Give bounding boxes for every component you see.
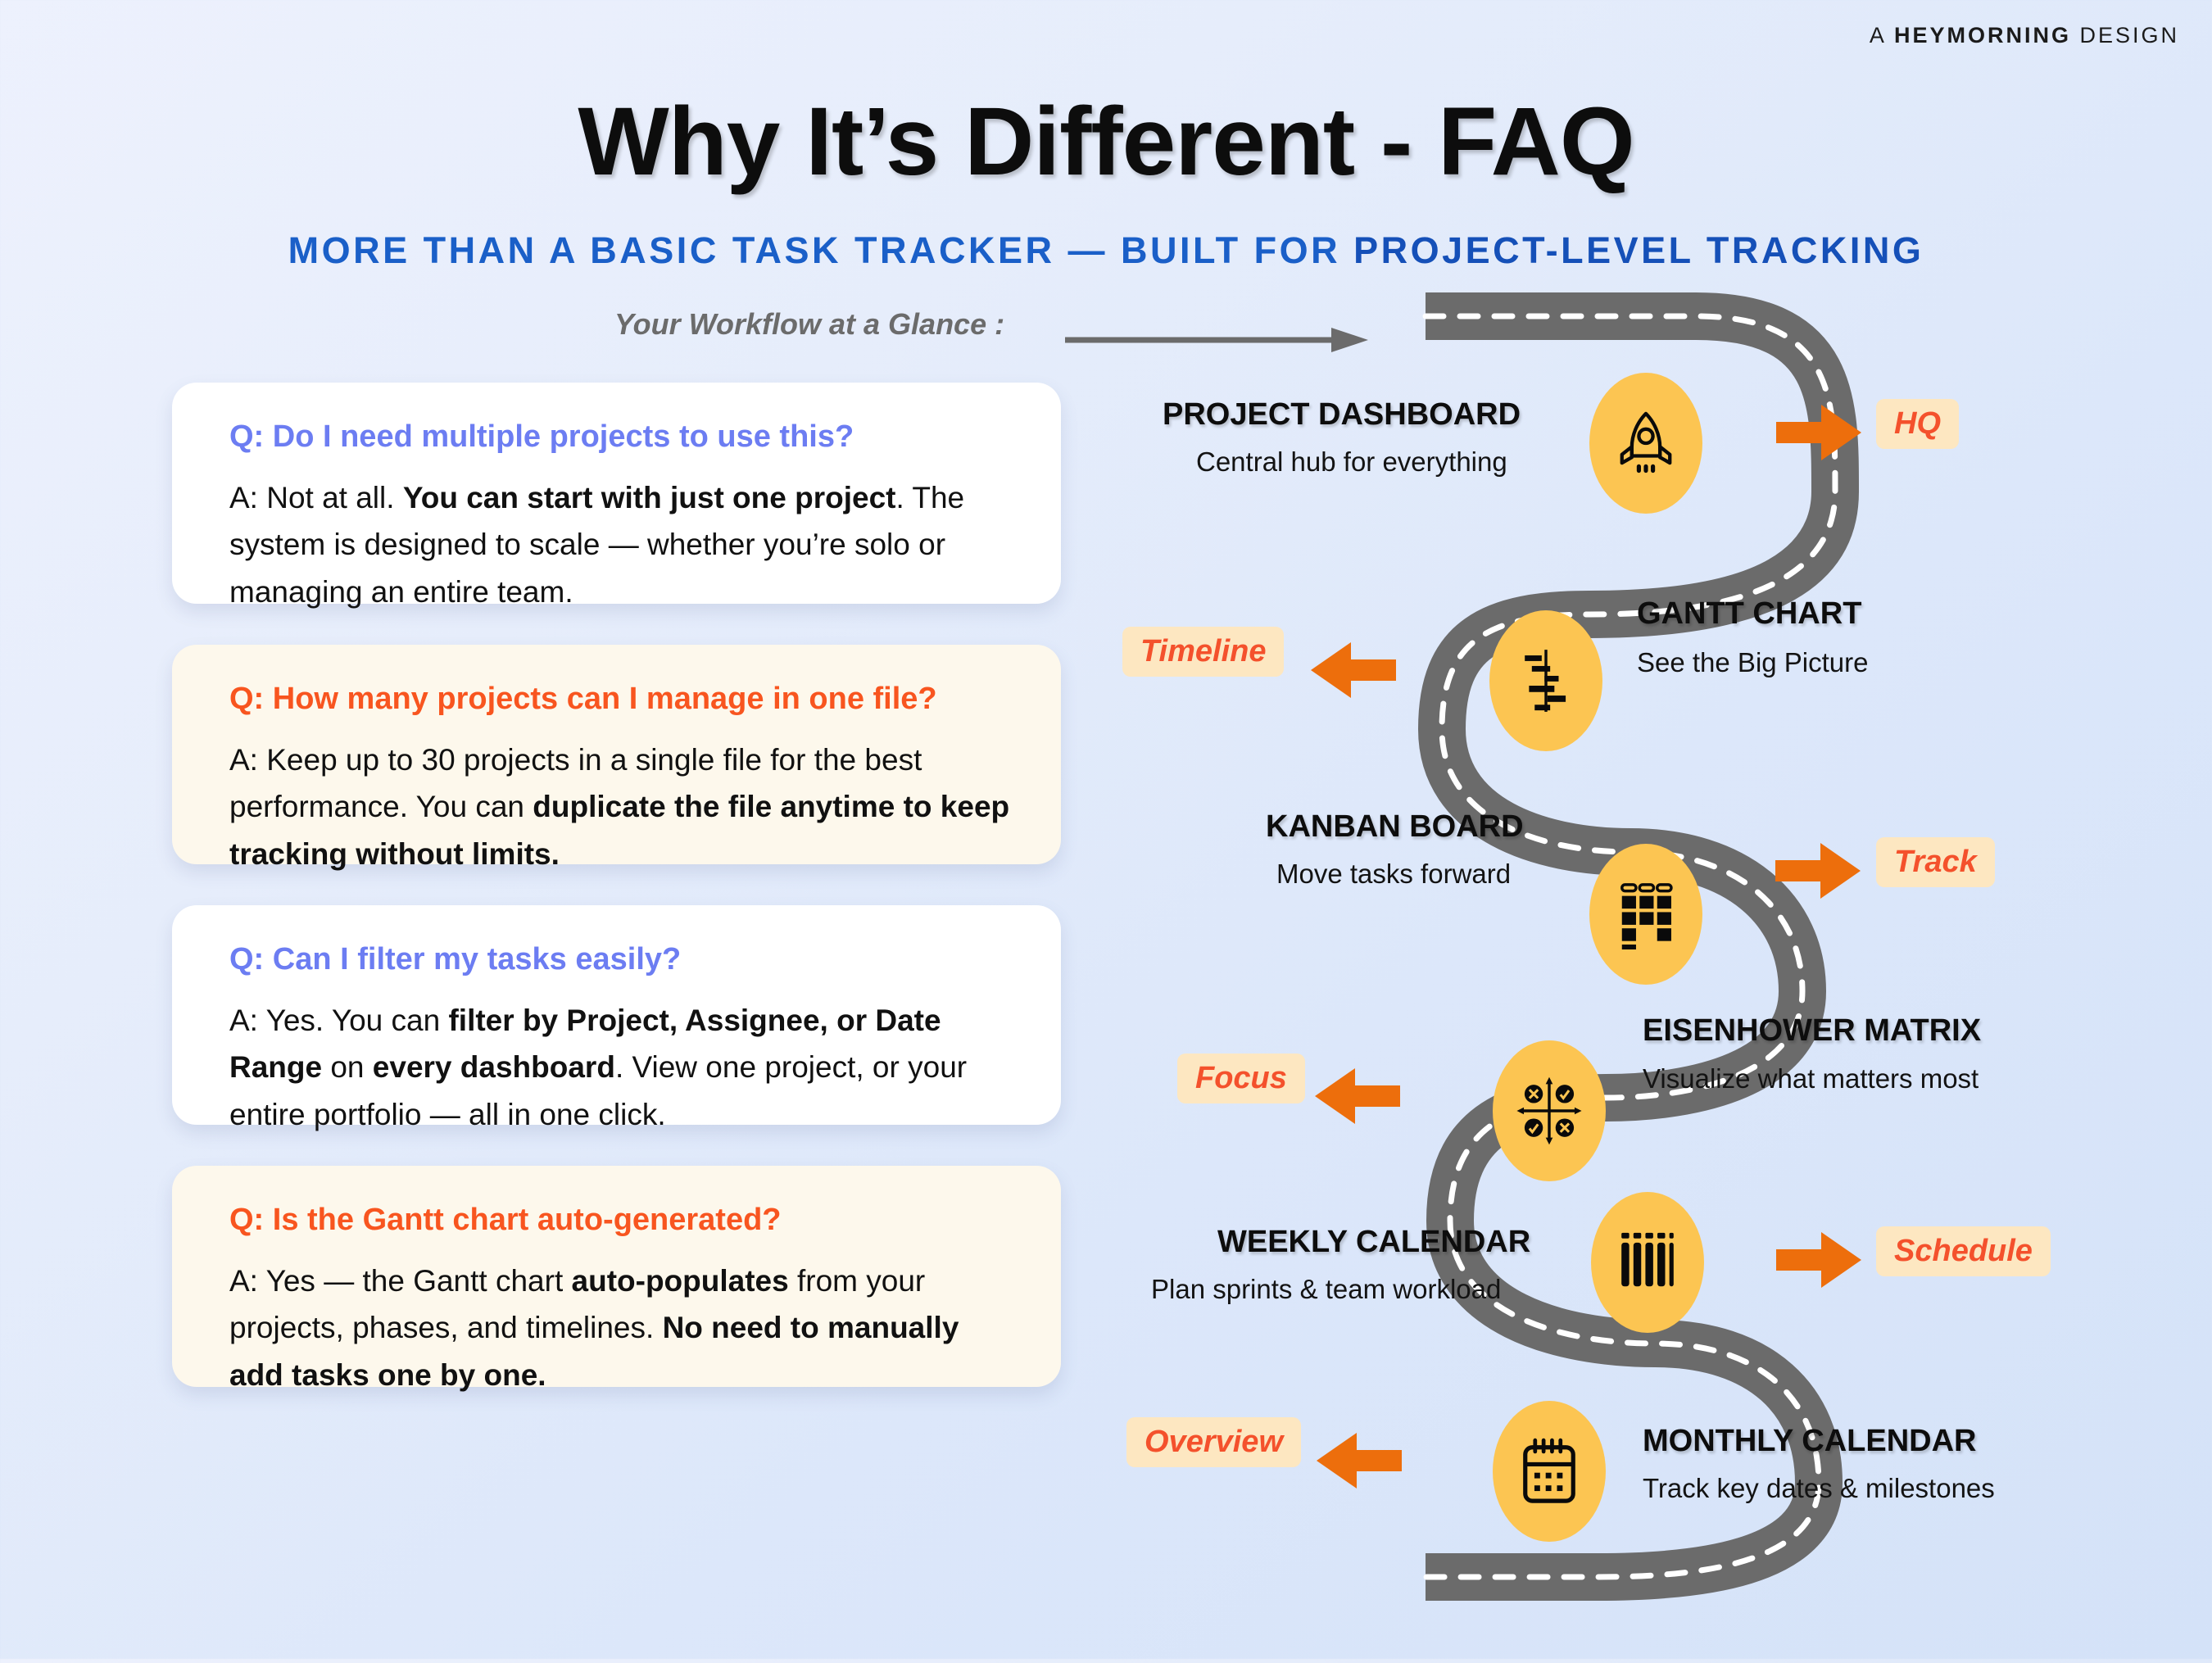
faq-answer-text: on [322,1050,373,1084]
page-title: Why It’s Different - FAQ [0,86,2212,197]
faq-answer-emphasis: auto-populates [572,1264,789,1298]
stop-icon-bubble[interactable] [1589,373,1702,514]
long-right-arrow-icon [1065,326,1368,354]
page-subtitle: MORE THAN A BASIC TASK TRACKER — BUILT F… [0,229,2212,272]
faq-answer-text: A: Yes — the Gantt chart [229,1264,572,1298]
faq-question: Q: Can I filter my tasks easily? [229,941,1010,979]
brand-credit: A HEYMORNING DESIGN [1870,23,2179,48]
workflow-label: Your Workflow at a Glance : [614,307,1004,342]
subtitle-emphasis: PROJECT-LEVEL TRACKING [1353,229,1924,271]
stop-title: WEEKLY CALENDAR [1217,1225,1530,1260]
stop-badge[interactable]: Focus [1177,1054,1305,1103]
faq-card: Q: Can I filter my tasks easily?A: Yes. … [172,905,1061,1125]
brand-prefix: A [1870,23,1894,48]
stop-title: GANTT CHART [1637,596,1861,632]
stop-title: MONTHLY CALENDAR [1643,1424,1976,1459]
faq-card: Q: How many projects can I manage in one… [172,645,1061,864]
rocket-icon [1611,408,1681,478]
quadrant-matrix-icon [1514,1076,1584,1146]
arrow-right-icon [1776,401,1861,464]
stop-title: PROJECT DASHBOARD [1163,397,1521,433]
faq-answer-text: A: Yes. You can [229,1004,448,1037]
stop-badge[interactable]: Track [1876,837,1995,887]
arrow-left-icon [1311,639,1396,701]
arrow-left-icon [1317,1430,1402,1492]
stop-icon-bubble[interactable] [1493,1401,1606,1542]
faq-answer-emphasis: every dashboard [373,1050,615,1084]
faq-answer-text: A: Not at all. [229,481,403,514]
calendar-icon [1514,1436,1584,1507]
stop-badge[interactable]: Overview [1126,1417,1301,1467]
stop-subtitle: Track key dates & milestones [1643,1473,1995,1504]
stop-subtitle: Plan sprints & team workload [1151,1274,1501,1305]
faq-card-list: Q: Do I need multiple projects to use th… [172,383,1061,1428]
faq-card: Q: Do I need multiple projects to use th… [172,383,1061,604]
brand-name: HEYMORNING [1894,23,2071,48]
stop-badge[interactable]: Timeline [1122,627,1284,677]
stop-icon-bubble[interactable] [1489,610,1602,751]
faq-card: Q: Is the Gantt chart auto-generated?A: … [172,1166,1061,1387]
stop-icon-bubble[interactable] [1493,1040,1606,1181]
subtitle-lead: MORE THAN A BASIC TASK TRACKER — BUILT F… [288,229,1353,271]
faq-question: Q: Is the Gantt chart auto-generated? [229,1202,1010,1239]
faq-answer: A: Not at all. You can start with just o… [229,474,1010,616]
stop-subtitle: Visualize what matters most [1643,1063,1979,1094]
faq-answer: A: Keep up to 30 projects in a single fi… [229,736,1010,878]
arrow-right-icon [1775,840,1861,902]
brand-suffix: DESIGN [2071,23,2179,48]
stop-subtitle: Move tasks forward [1276,859,1511,890]
stop-badge[interactable]: HQ [1876,399,1959,449]
gantt-bars-icon [1511,646,1581,716]
faq-question: Q: How many projects can I manage in one… [229,681,1010,718]
arrow-left-icon [1315,1065,1400,1127]
faq-answer: A: Yes. You can filter by Project, Assig… [229,997,1010,1139]
week-columns-icon [1612,1227,1683,1298]
stop-title: EISENHOWER MATRIX [1643,1013,1981,1049]
stop-subtitle: Central hub for everything [1196,446,1507,478]
faq-answer: A: Yes — the Gantt chart auto-populates … [229,1257,1010,1399]
faq-answer-emphasis: You can start with just one project [403,481,896,514]
faq-question: Q: Do I need multiple projects to use th… [229,419,1010,456]
kanban-columns-icon [1611,879,1681,949]
stop-icon-bubble[interactable] [1589,844,1702,985]
arrow-right-icon [1776,1229,1861,1291]
stop-title: KANBAN BOARD [1266,809,1524,845]
stop-badge[interactable]: Schedule [1876,1226,2051,1276]
stop-icon-bubble[interactable] [1591,1192,1704,1333]
stop-subtitle: See the Big Picture [1637,647,1869,678]
